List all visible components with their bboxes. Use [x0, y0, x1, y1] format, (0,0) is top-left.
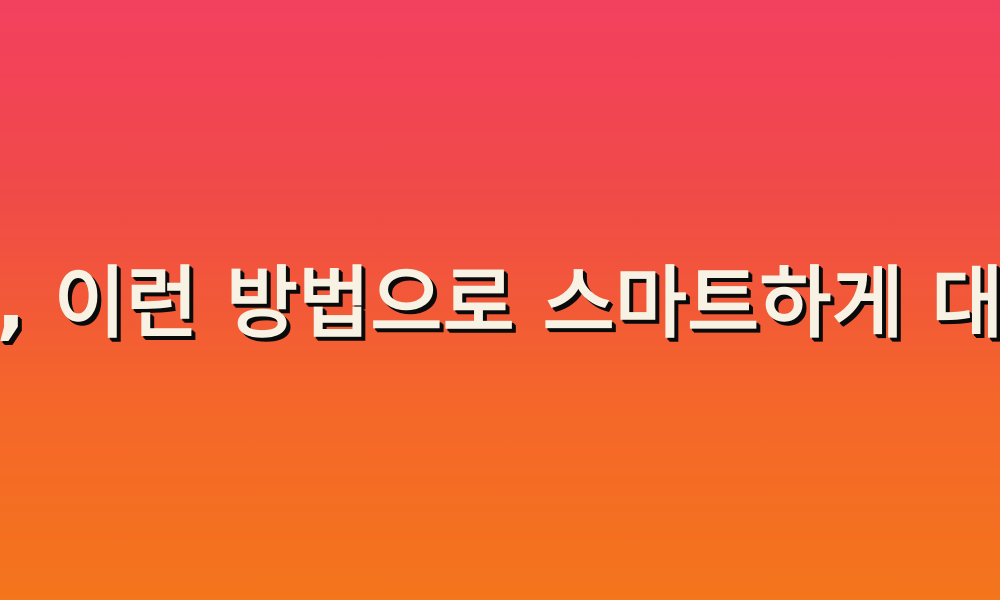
headline-container: 전화, 이런 방법으로 스마트하게 대처해	[0, 0, 1000, 600]
banner-canvas: 전화, 이런 방법으로 스마트하게 대처해	[0, 0, 1000, 600]
headline-text: 전화, 이런 방법으로 스마트하게 대처해	[0, 265, 1000, 343]
